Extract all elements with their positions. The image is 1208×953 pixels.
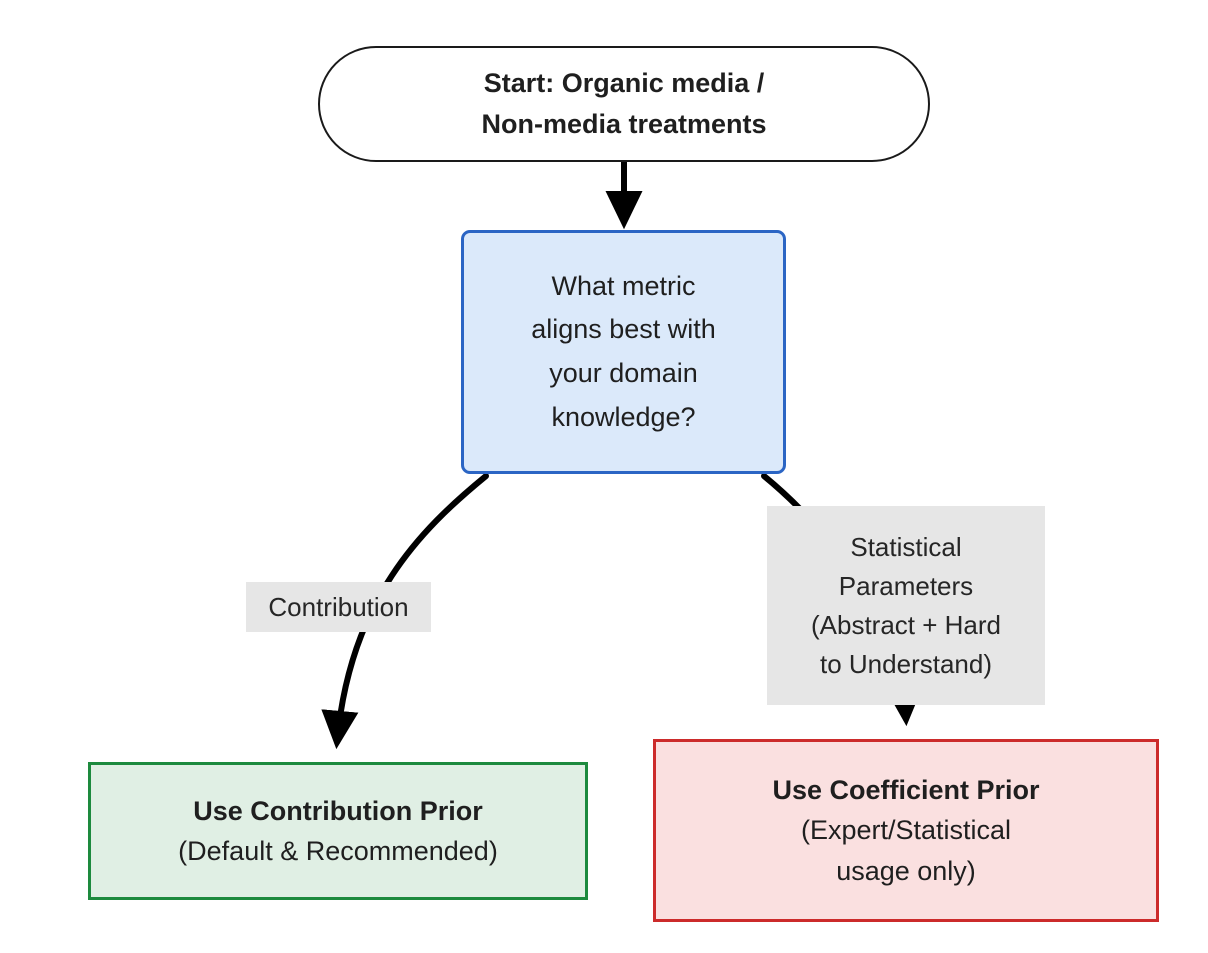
node-decision-line-4: knowledge? xyxy=(551,396,695,440)
node-decision-line-1: What metric xyxy=(551,265,695,309)
edge-label-statistical-line-1: Statistical xyxy=(850,528,961,567)
node-coefficient-prior[interactable]: Use Coefficient Prior (Expert/Statistica… xyxy=(653,739,1159,922)
node-contribution-prior-subtitle: (Default & Recommended) xyxy=(178,831,498,872)
edge-label-statistical-line-4: to Understand) xyxy=(820,645,992,684)
edge-label-contribution-line-1: Contribution xyxy=(268,588,408,627)
node-start-line-2: Non-media treatments xyxy=(481,104,766,145)
edge-label-statistical-parameters: Statistical Parameters (Abstract + Hard … xyxy=(767,506,1045,705)
node-coefficient-prior-subtitle: (Expert/Statistical usage only) xyxy=(801,810,1011,891)
node-coefficient-prior-subtitle-line-2: usage only) xyxy=(801,851,1011,892)
node-contribution-prior[interactable]: Use Contribution Prior (Default & Recomm… xyxy=(88,762,588,900)
node-decision-line-3: your domain xyxy=(549,352,698,396)
node-start[interactable]: Start: Organic media / Non-media treatme… xyxy=(318,46,930,162)
flowchart-canvas: Start: Organic media / Non-media treatme… xyxy=(0,0,1208,953)
node-coefficient-prior-subtitle-line-1: (Expert/Statistical xyxy=(801,810,1011,851)
edge-label-statistical-line-3: (Abstract + Hard xyxy=(811,606,1001,645)
edge-label-statistical-line-2: Parameters xyxy=(839,567,973,606)
edge-label-contribution: Contribution xyxy=(246,582,431,632)
node-start-line-1: Start: Organic media / xyxy=(484,63,765,104)
node-contribution-prior-title: Use Contribution Prior xyxy=(193,791,483,832)
node-coefficient-prior-title: Use Coefficient Prior xyxy=(772,770,1039,811)
node-decision-line-2: aligns best with xyxy=(531,308,716,352)
node-decision-metric[interactable]: What metric aligns best with your domain… xyxy=(461,230,786,474)
